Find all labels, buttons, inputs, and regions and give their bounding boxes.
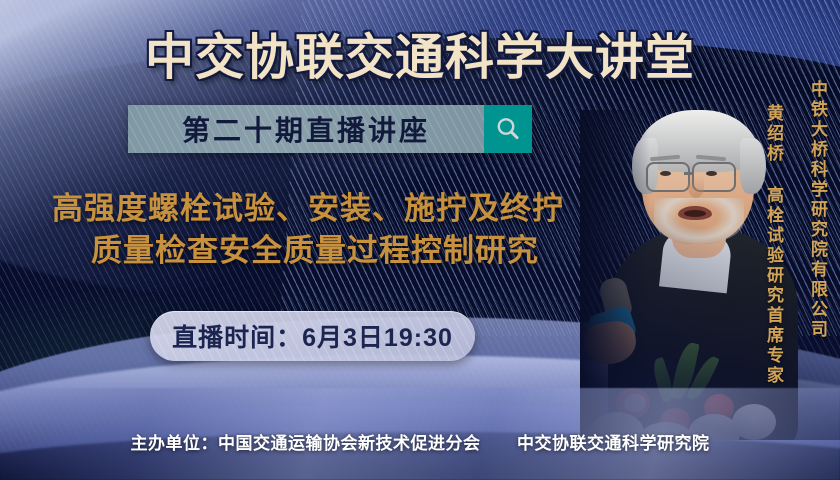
footer-organizers: 主办单位：中国交通运输协会新技术促进分会 中交协联交通科学研究院 (0, 429, 840, 454)
speaker-name-role: 黄绍桥 高栓试验研究首席专家 (763, 104, 782, 386)
subtitle-band: 第二十期直播讲座 (128, 105, 532, 153)
speaker-organization: 中铁大桥科学研究院有限公司 (807, 80, 826, 340)
footer-organizer-primary: 主办单位：中国交通运输协会新技术促进分会 (131, 434, 481, 453)
live-lecture-poster: 中交协联交通科学大讲堂 第二十期直播讲座 高强度螺栓试验、安装、施拧及终拧 质量… (0, 0, 840, 480)
lecture-headline-line-2: 质量检查安全质量过程控制研究 (8, 230, 608, 272)
footer-organizer-secondary: 中交协联交通科学研究院 (517, 434, 710, 453)
subtitle-band-label-area: 第二十期直播讲座 (128, 105, 484, 153)
subtitle-label: 第二十期直播讲座 (182, 109, 430, 149)
search-button[interactable] (484, 105, 532, 153)
search-icon (495, 116, 521, 142)
page-title: 中交协联交通科学大讲堂 (0, 18, 840, 89)
lecture-headline: 高强度螺栓试验、安装、施拧及终拧 质量检查安全质量过程控制研究 (8, 188, 608, 272)
lecture-headline-line-1: 高强度螺栓试验、安装、施拧及终拧 (8, 188, 608, 230)
broadcast-time-badge: 直播时间：6月3日19:30 (150, 311, 475, 361)
broadcast-time-label: 直播时间：6月3日19:30 (172, 318, 453, 354)
